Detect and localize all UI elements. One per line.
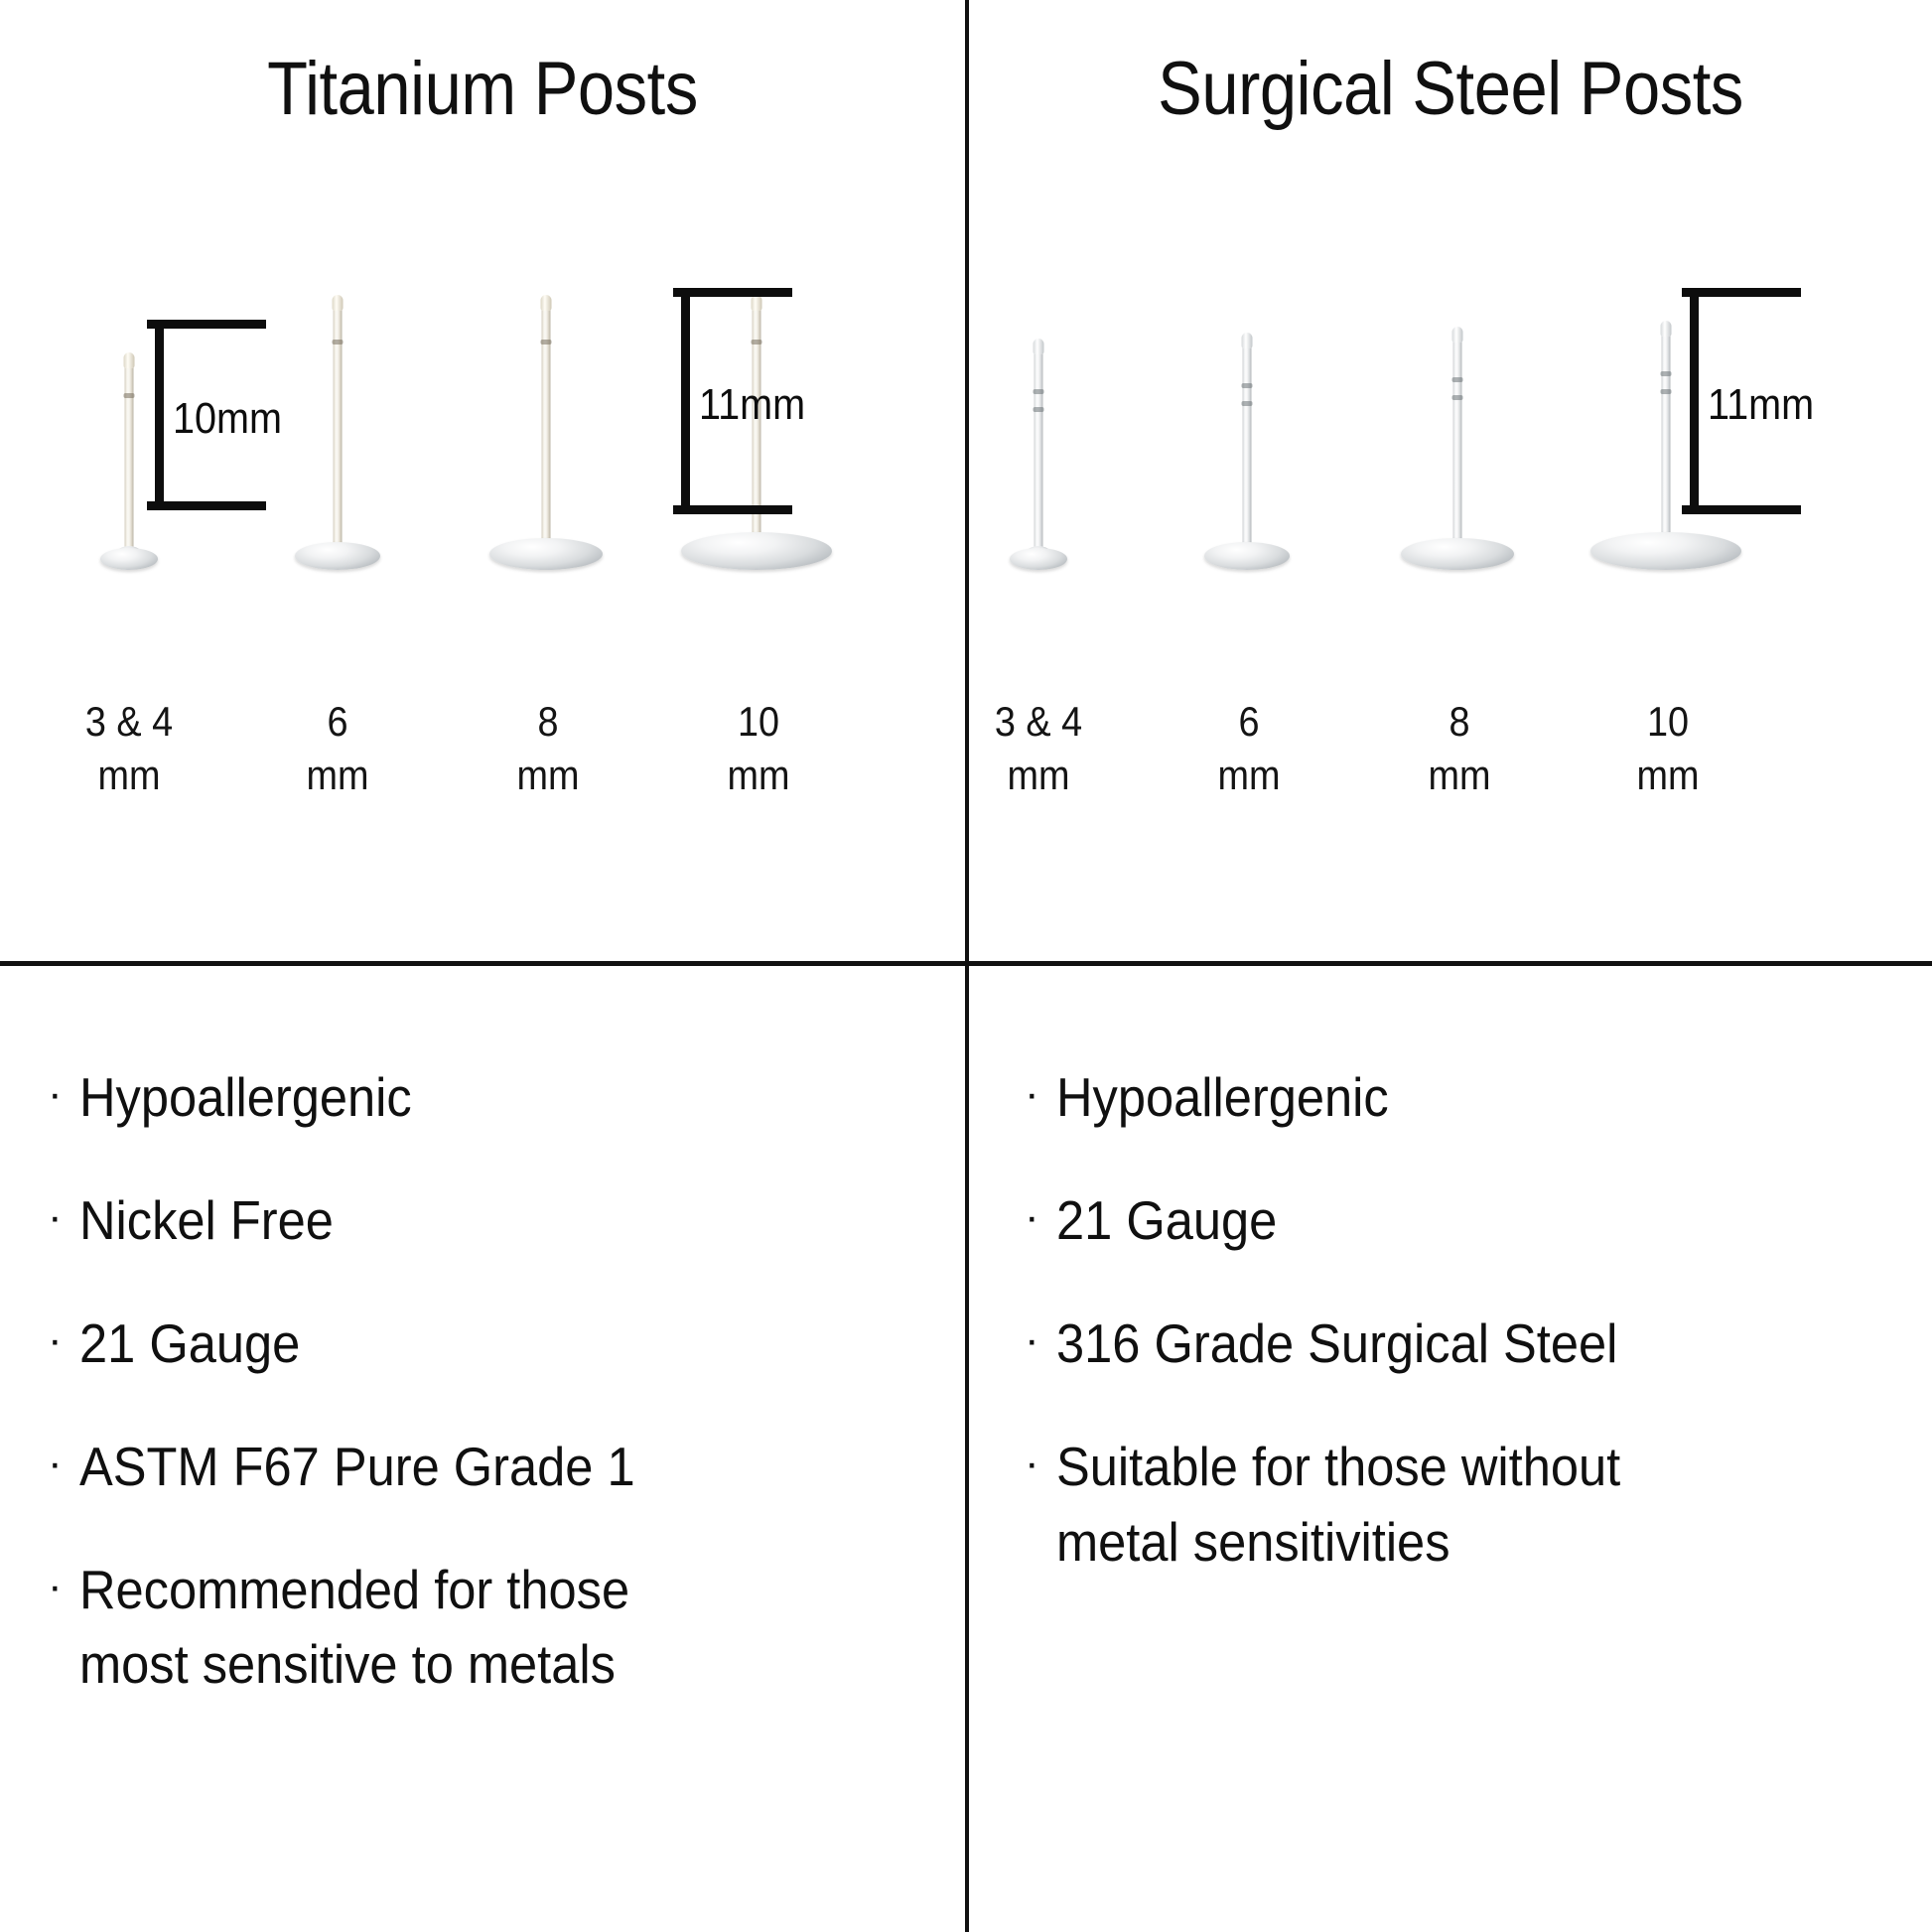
bullet-dot-icon: · [1025, 1307, 1039, 1374]
measure-cap-bottom [1682, 505, 1801, 514]
size-caption-3-4mm: 3 & 4 mm [949, 695, 1128, 802]
list-item: · 21 Gauge [48, 1307, 921, 1382]
titanium-size-captions: 3 & 4 mm 6 mm 8 mm 10 mm [0, 695, 965, 824]
measure-cap-top [673, 288, 792, 297]
list-item-label: Recommended for those most sensitive to … [79, 1553, 629, 1704]
list-item-label: 316 Grade Surgical Steel [1056, 1307, 1617, 1382]
list-item: · 21 Gauge [1025, 1183, 1898, 1259]
list-item: · 316 Grade Surgical Steel [1025, 1307, 1898, 1382]
earring-pin-icon [1035, 345, 1043, 554]
titanium-section-title: Titanium Posts [58, 48, 906, 131]
list-item: · Suitable for those without metal sensi… [1025, 1430, 1898, 1581]
measure-stem [681, 288, 690, 514]
size-value: 10 [1647, 698, 1689, 745]
titanium-posts-row: 10mm 11mm [0, 278, 965, 576]
list-item-label: Hypoallergenic [79, 1060, 412, 1136]
measure-cap-top [1682, 288, 1801, 297]
earring-pin-icon [542, 302, 551, 554]
size-unit: mm [728, 752, 790, 798]
size-unit: mm [1429, 752, 1491, 798]
bullet-dot-icon: · [48, 1060, 63, 1128]
bullet-dot-icon: · [48, 1553, 63, 1620]
earring-pin-icon [334, 302, 343, 554]
size-caption-8mm: 8 mm [459, 695, 637, 802]
size-unit: mm [1218, 752, 1281, 798]
earring-pin-icon [1662, 328, 1671, 554]
size-value: 8 [537, 698, 558, 745]
size-value: 3 & 4 [85, 698, 173, 745]
list-item-label: 21 Gauge [79, 1307, 300, 1382]
size-value: 10 [738, 698, 779, 745]
size-value: 8 [1449, 698, 1469, 745]
titanium-feature-list: · Hypoallergenic · Nickel Free · 21 Gaug… [48, 1060, 921, 1750]
measure-cap-bottom [673, 505, 792, 514]
size-unit: mm [98, 752, 161, 798]
list-item: · Nickel Free [48, 1183, 921, 1259]
post-disc [1010, 548, 1067, 570]
measurement-11mm: 11mm [673, 288, 802, 514]
size-caption-10mm: 10 mm [669, 695, 848, 802]
steel-post-6mm [1158, 278, 1336, 576]
bullet-dot-icon: · [48, 1430, 63, 1497]
surgical-steel-feature-list: · Hypoallergenic · 21 Gauge · 316 Grade … [1025, 1060, 1898, 1627]
post-disc [100, 548, 158, 570]
surgical-steel-section-title: Surgical Steel Posts [1027, 48, 1874, 131]
vertical-divider [965, 0, 969, 1932]
list-item: · Recommended for those most sensitive t… [48, 1553, 921, 1704]
size-value: 6 [327, 698, 347, 745]
list-item-label: Nickel Free [79, 1183, 334, 1259]
measurement-label: 11mm [699, 383, 805, 427]
steel-size-captions: 3 & 4 mm 6 mm 8 mm 10 mm [969, 695, 1932, 824]
titanium-posts-panel: Titanium Posts [0, 0, 965, 961]
post-disc [1204, 542, 1290, 570]
measurement-10mm: 10mm [147, 320, 276, 510]
steel-post-3-4mm [949, 278, 1128, 576]
size-unit: mm [1637, 752, 1700, 798]
size-caption-6mm: 6 mm [248, 695, 427, 802]
post-disc [1401, 538, 1514, 570]
post-disc [681, 532, 832, 570]
list-item: · Hypoallergenic [48, 1060, 921, 1136]
size-value: 3 & 4 [995, 698, 1082, 745]
bullet-dot-icon: · [1025, 1060, 1039, 1128]
surgical-steel-features-panel: · Hypoallergenic · 21 Gauge · 316 Grade … [969, 966, 1932, 1932]
titanium-features-panel: · Hypoallergenic · Nickel Free · 21 Gaug… [0, 966, 965, 1932]
size-caption-8mm: 8 mm [1370, 695, 1549, 802]
post-disc [489, 538, 603, 570]
measurement-label: 11mm [1708, 383, 1814, 427]
surgical-steel-posts-row: 11mm [969, 278, 1932, 576]
measure-cap-top [147, 320, 266, 329]
post-disc [1590, 532, 1741, 570]
measurement-label: 10mm [173, 397, 282, 441]
measurement-11mm: 11mm [1682, 288, 1811, 514]
measure-stem [155, 320, 164, 510]
list-item-label: ASTM F67 Pure Grade 1 [79, 1430, 635, 1505]
measure-cap-bottom [147, 501, 266, 510]
list-item-label: Suitable for those without metal sensiti… [1056, 1430, 1620, 1581]
post-disc [295, 542, 380, 570]
earring-pin-icon [125, 359, 134, 554]
size-unit: mm [1008, 752, 1070, 798]
size-caption-3-4mm: 3 & 4 mm [40, 695, 218, 802]
list-item-label: 21 Gauge [1056, 1183, 1277, 1259]
horizontal-divider [0, 961, 1932, 966]
list-item: · Hypoallergenic [1025, 1060, 1898, 1136]
surgical-steel-posts-panel: Surgical Steel Posts [969, 0, 1932, 961]
size-caption-10mm: 10 mm [1579, 695, 1757, 802]
list-item: · ASTM F67 Pure Grade 1 [48, 1430, 921, 1505]
bullet-dot-icon: · [48, 1183, 63, 1251]
infographic-page: Titanium Posts [0, 0, 1932, 1932]
steel-post-8mm [1368, 278, 1547, 576]
bullet-dot-icon: · [48, 1307, 63, 1374]
measure-stem [1690, 288, 1699, 514]
size-caption-6mm: 6 mm [1160, 695, 1338, 802]
list-item-label: Hypoallergenic [1056, 1060, 1389, 1136]
bullet-dot-icon: · [1025, 1430, 1039, 1497]
size-value: 6 [1238, 698, 1259, 745]
bullet-dot-icon: · [1025, 1183, 1039, 1251]
earring-pin-icon [1453, 334, 1462, 554]
size-unit: mm [517, 752, 580, 798]
earring-pin-icon [1243, 340, 1252, 554]
size-unit: mm [307, 752, 369, 798]
titanium-post-8mm [457, 278, 635, 576]
